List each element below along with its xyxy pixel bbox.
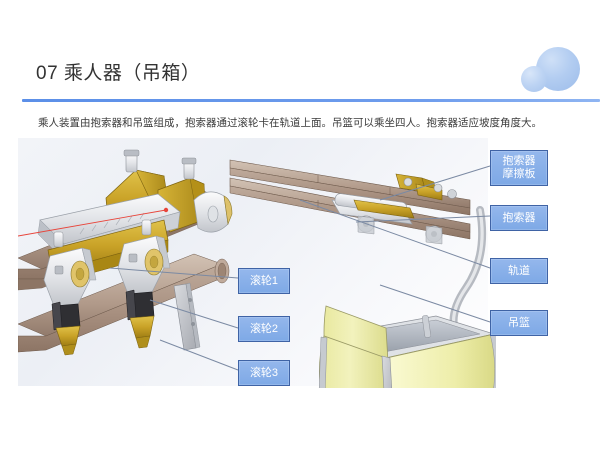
support-post: [174, 283, 200, 350]
gondola-cabin: [317, 306, 496, 388]
label-roller-3[interactable]: 滚轮3: [238, 360, 290, 386]
label-roller-1-text: 滚轮1: [250, 275, 278, 288]
label-roller-1[interactable]: 滚轮1: [238, 268, 290, 294]
body-paragraph: 乘人装置由抱索器和吊篮组成，抱索器通过滚轮卡在轨道上面。吊篮可以乘坐四人。抱索器…: [38, 116, 578, 131]
label-roller-3-text: 滚轮3: [250, 367, 278, 380]
label-cabin-text: 吊篮: [508, 317, 530, 330]
title-divider: [22, 99, 600, 102]
label-track[interactable]: 轨道: [490, 258, 548, 284]
label-gripper[interactable]: 抱索器: [490, 205, 548, 231]
label-track-text: 轨道: [508, 265, 530, 278]
label-gripper-friction-plate[interactable]: 抱索器 摩擦板: [490, 150, 548, 186]
page-title: 07 乘人器（吊箱）: [36, 58, 200, 85]
slide-canvas: 07 乘人器（吊箱） 乘人装置由抱索器和吊篮组成，抱索器通过滚轮卡在轨道上面。吊…: [0, 0, 600, 450]
decorative-circle-large-icon: [536, 47, 580, 91]
illustration-drawing: [18, 138, 496, 388]
label-cabin[interactable]: 吊篮: [490, 310, 548, 336]
illustration-figure: [18, 138, 496, 388]
decorative-circle-small-icon: [521, 66, 547, 92]
label-gripper-text: 抱索器: [503, 212, 536, 225]
label-gripper-friction-plate-line1: 抱索器: [503, 155, 536, 168]
gripper-clamp-right: [194, 192, 232, 232]
label-roller-2[interactable]: 滚轮2: [238, 316, 290, 342]
header-decoration: [490, 0, 600, 100]
label-roller-2-text: 滚轮2: [250, 323, 278, 336]
label-gripper-friction-plate-line2: 摩擦板: [503, 168, 536, 181]
